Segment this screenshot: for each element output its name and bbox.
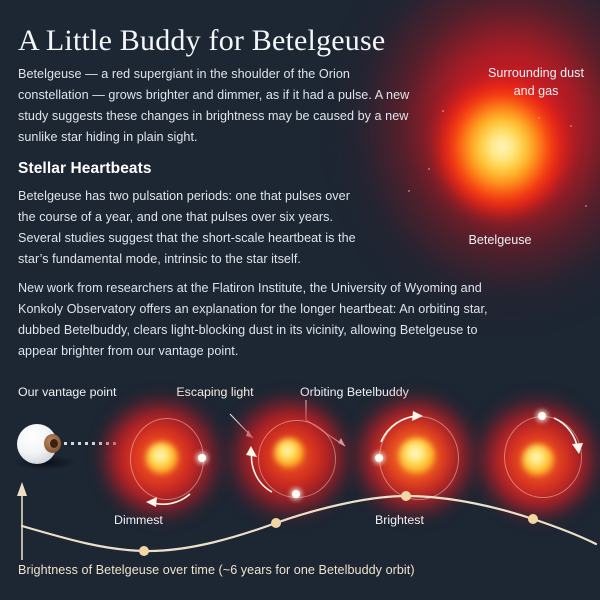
annotation-dimmest: Dimmest: [114, 512, 163, 529]
chart-point: [528, 514, 538, 524]
chart-point-brightest: [401, 491, 411, 501]
chart-caption: Brightness of Betelgeuse over time (~6 y…: [18, 563, 415, 577]
chart-point-dimmest: [139, 546, 149, 556]
annotation-brightest: Brightest: [375, 512, 424, 529]
y-axis-arrowhead: [17, 482, 27, 496]
infographic-canvas: Surrounding dust and gas Betelgeuse A Li…: [0, 0, 600, 600]
brightness-chart: [0, 460, 600, 570]
chart-point: [271, 518, 281, 528]
brightness-curve: [22, 496, 596, 551]
